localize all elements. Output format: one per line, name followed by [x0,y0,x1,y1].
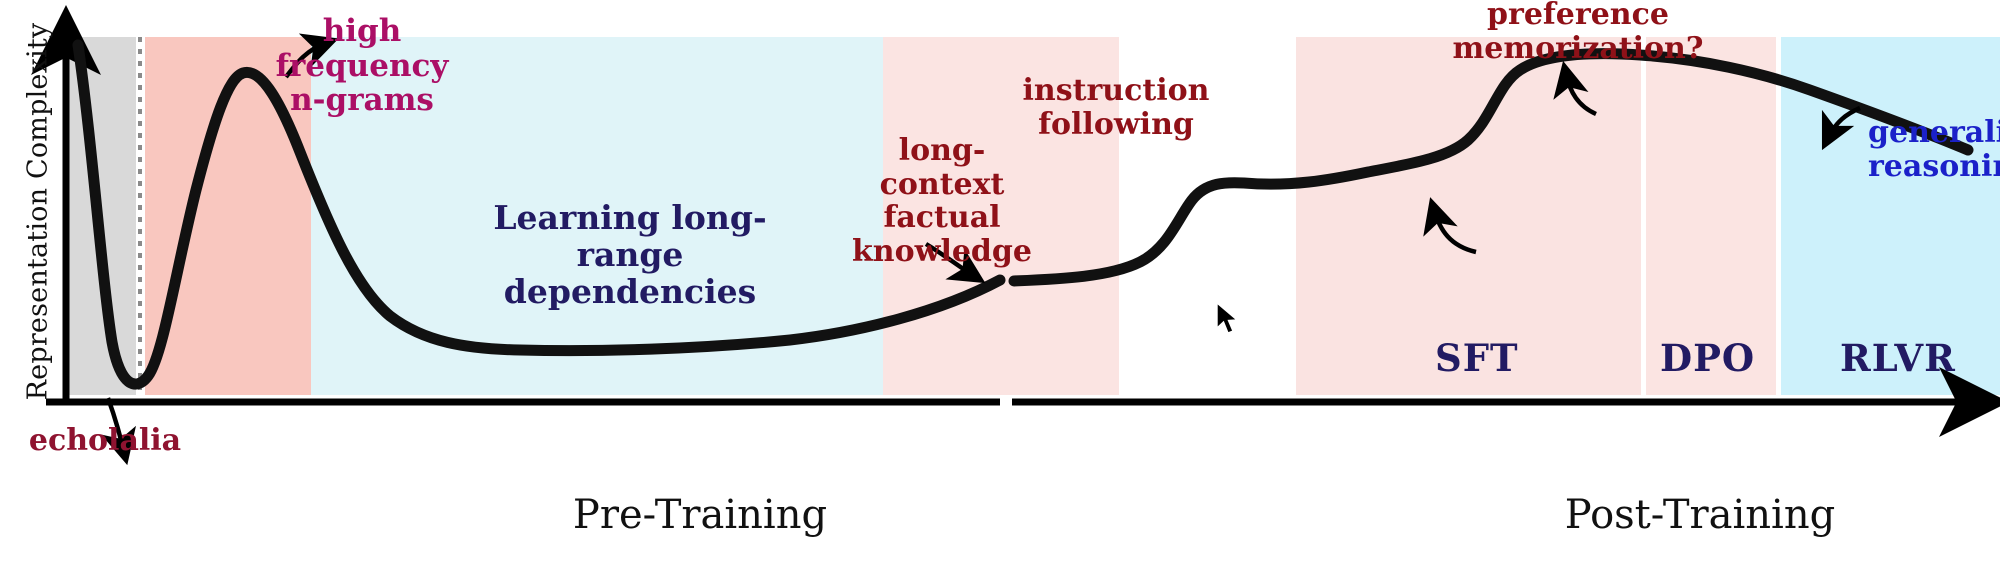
annotation-high-frequency-ngrams: high frequencyn-grams [262,14,462,118]
figure-canvas: Representation Complexity Pre-Training P… [0,0,2000,587]
annotation-echolalia: echolalia [10,424,200,458]
y-axis-label: Representation Complexity [23,2,54,422]
annotation-generalized-reasoning: generalizedreasoning [1868,116,1992,183]
annotation-preference-memorization: preferencememorization? [1448,0,1708,65]
annotation-instruction-following: instructionfollowing [1018,74,1214,141]
annotation-learning-long-range: Learning long-rangedependencies [460,200,800,311]
x-axis-label-posttraining: Post-Training [1400,492,2000,538]
phase-label-dpo: DPO [1660,336,1755,380]
phase-label-sft: SFT [1435,336,1519,380]
x-axis-label-pretraining: Pre-Training [300,492,1100,538]
annotation-long-context-factual: long-contextfactualknowledge [846,134,1038,268]
phase-label-rlvr: RLVR [1840,336,1956,380]
